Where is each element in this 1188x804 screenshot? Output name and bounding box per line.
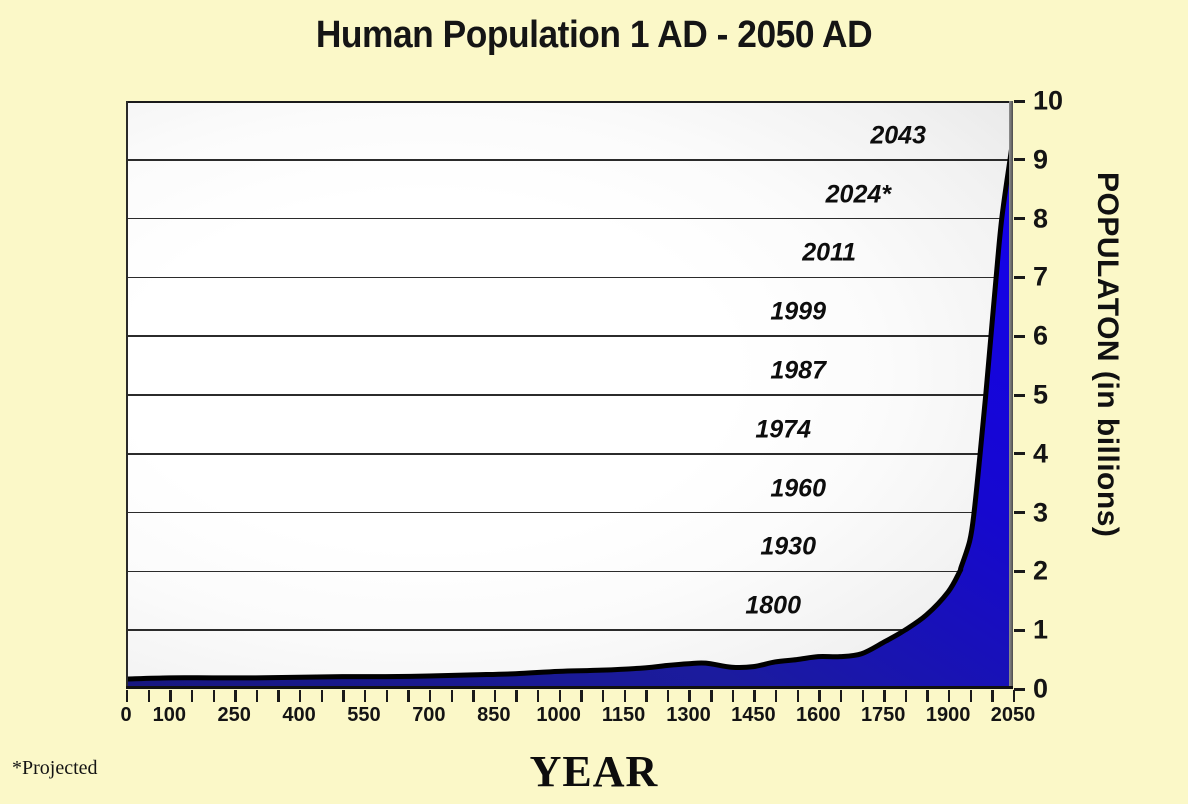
x-tick-label-550: 550 bbox=[347, 704, 380, 727]
x-tick-label-1750: 1750 bbox=[861, 704, 906, 727]
x-tick-mark-800 bbox=[472, 690, 474, 702]
x-tick-mark-500 bbox=[342, 690, 344, 702]
x-tick-mark-0 bbox=[126, 690, 128, 702]
y-tick-label-10: 10 bbox=[1033, 86, 1063, 117]
y-tick-mark-5 bbox=[1014, 394, 1025, 397]
y-tick-label-9: 9 bbox=[1033, 144, 1048, 175]
y-tick-label-0: 0 bbox=[1033, 674, 1048, 705]
y-tick-label-1: 1 bbox=[1033, 615, 1048, 646]
x-tick-mark-400 bbox=[299, 690, 301, 702]
x-tick-mark-1650 bbox=[840, 690, 842, 702]
y-tick-label-8: 8 bbox=[1033, 203, 1048, 234]
y-tick-label-6: 6 bbox=[1033, 321, 1048, 352]
y-tick-mark-1 bbox=[1014, 629, 1025, 632]
x-tick-mark-1200 bbox=[645, 690, 647, 702]
y-tick-label-5: 5 bbox=[1033, 380, 1048, 411]
annotation-2043: 2043 bbox=[870, 121, 926, 150]
x-tick-mark-250 bbox=[234, 690, 236, 702]
annotation-1800: 1800 bbox=[745, 592, 801, 621]
x-tick-mark-1550 bbox=[797, 690, 799, 702]
plot-border-left bbox=[126, 101, 128, 689]
annotation-2024-projected: 2024* bbox=[826, 180, 891, 209]
x-tick-mark-1100 bbox=[602, 690, 604, 702]
y-tick-mark-4 bbox=[1014, 452, 1025, 455]
x-tick-label-1000: 1000 bbox=[536, 704, 581, 727]
y-tick-mark-2 bbox=[1014, 570, 1025, 573]
x-tick-mark-450 bbox=[321, 690, 323, 702]
annotation-2011: 2011 bbox=[802, 239, 856, 268]
population-chart: Human Population 1 AD - 2050 AD 20432024… bbox=[0, 0, 1188, 804]
x-tick-mark-200 bbox=[213, 690, 215, 702]
x-tick-mark-700 bbox=[429, 690, 431, 702]
y-tick-mark-0 bbox=[1014, 688, 1025, 691]
y-tick-mark-7 bbox=[1014, 276, 1025, 279]
plot-area: 20432024*2011199919871974196019301800 bbox=[126, 101, 1013, 689]
x-tick-mark-1250 bbox=[667, 690, 669, 702]
x-tick-label-0: 0 bbox=[120, 704, 131, 727]
x-tick-mark-1000 bbox=[559, 690, 561, 702]
x-tick-mark-750 bbox=[451, 690, 453, 702]
annotation-1987: 1987 bbox=[770, 357, 826, 386]
x-tick-mark-150 bbox=[191, 690, 193, 702]
x-tick-mark-100 bbox=[169, 690, 171, 702]
y-tick-label-2: 2 bbox=[1033, 556, 1048, 587]
x-tick-mark-650 bbox=[407, 690, 409, 702]
plot-border-right bbox=[1009, 101, 1013, 689]
y-tick-label-3: 3 bbox=[1033, 497, 1048, 528]
projected-footnote: *Projected bbox=[12, 757, 98, 780]
x-tick-label-1150: 1150 bbox=[602, 704, 645, 727]
x-tick-label-1300: 1300 bbox=[666, 704, 711, 727]
x-axis-title: YEAR bbox=[0, 746, 1188, 797]
plot-border-top bbox=[126, 101, 1013, 103]
x-tick-mark-550 bbox=[364, 690, 366, 702]
x-tick-mark-1750 bbox=[883, 690, 885, 702]
x-tick-mark-1600 bbox=[818, 690, 820, 702]
x-tick-label-1450: 1450 bbox=[731, 704, 776, 727]
annotation-1999: 1999 bbox=[770, 298, 826, 327]
x-tick-mark-1400 bbox=[732, 690, 734, 702]
x-tick-mark-1500 bbox=[775, 690, 777, 702]
x-tick-label-700: 700 bbox=[412, 704, 445, 727]
x-tick-mark-950 bbox=[537, 690, 539, 702]
x-tick-mark-1800 bbox=[905, 690, 907, 702]
x-tick-label-850: 850 bbox=[477, 704, 510, 727]
y-tick-mark-9 bbox=[1014, 158, 1025, 161]
x-tick-mark-1900 bbox=[948, 690, 950, 702]
x-tick-mark-2050 bbox=[1013, 690, 1015, 702]
plot-axis-baseline bbox=[126, 686, 1013, 689]
annotation-1960: 1960 bbox=[770, 474, 826, 503]
y-tick-mark-3 bbox=[1014, 511, 1025, 514]
x-tick-label-100: 100 bbox=[153, 704, 186, 727]
chart-title: Human Population 1 AD - 2050 AD bbox=[42, 14, 1147, 57]
y-tick-mark-8 bbox=[1014, 217, 1025, 220]
annotation-1930: 1930 bbox=[760, 533, 816, 562]
x-tick-mark-2000 bbox=[991, 690, 993, 702]
y-tick-label-4: 4 bbox=[1033, 438, 1048, 469]
x-tick-mark-600 bbox=[386, 690, 388, 702]
y-axis-title: POPULATON (in billions) bbox=[1090, 172, 1124, 537]
x-tick-mark-1300 bbox=[688, 690, 690, 702]
x-tick-mark-1450 bbox=[753, 690, 755, 702]
x-tick-label-1900: 1900 bbox=[926, 704, 971, 727]
y-tick-mark-6 bbox=[1014, 335, 1025, 338]
y-tick-label-7: 7 bbox=[1033, 262, 1048, 293]
x-tick-mark-900 bbox=[515, 690, 517, 702]
x-tick-mark-1950 bbox=[970, 690, 972, 702]
x-tick-mark-350 bbox=[277, 690, 279, 702]
x-tick-label-400: 400 bbox=[282, 704, 315, 727]
annotation-1974: 1974 bbox=[755, 415, 811, 444]
x-tick-mark-1350 bbox=[710, 690, 712, 702]
x-tick-label-250: 250 bbox=[217, 704, 250, 727]
x-tick-label-1600: 1600 bbox=[796, 704, 841, 727]
x-tick-mark-50 bbox=[148, 690, 150, 702]
x-tick-mark-1050 bbox=[580, 690, 582, 702]
x-tick-mark-300 bbox=[256, 690, 258, 702]
x-tick-mark-850 bbox=[494, 690, 496, 702]
y-tick-mark-10 bbox=[1014, 100, 1025, 103]
x-tick-mark-1150 bbox=[624, 690, 626, 702]
x-tick-mark-1700 bbox=[862, 690, 864, 702]
x-tick-mark-1850 bbox=[926, 690, 928, 702]
x-tick-label-2050: 2050 bbox=[991, 704, 1036, 727]
